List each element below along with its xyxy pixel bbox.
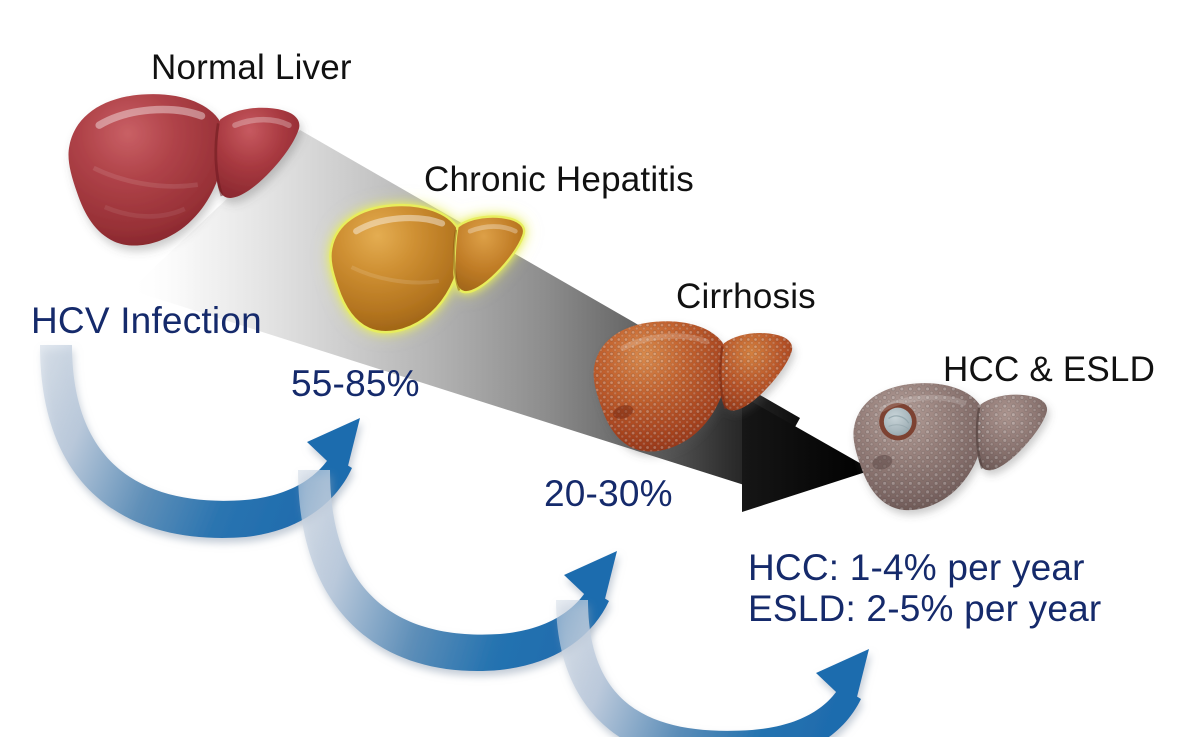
outcome-rate-esld: ESLD: 2-5% per year [748,588,1101,630]
stage-label-normal-liver: Normal Liver [151,48,352,88]
outcome-rate-hcc: HCC: 1-4% per year [748,547,1085,589]
cirrhosis-nodule-texture [594,321,793,451]
diagram-canvas: Normal Liver Chronic Hepatitis Cirrhosis… [0,0,1200,737]
liver-normal [69,94,300,245]
rate-label-55-85: 55-85% [291,363,420,405]
hcc-nodule-texture [853,383,1047,510]
source-label-hcv-infection: HCV Infection [31,300,262,342]
liver-cirrhosis [594,321,793,451]
liver-chronic-hepatitis [330,205,524,332]
stage-label-chronic-hepatitis: Chronic Hepatitis [424,160,694,200]
stage-label-cirrhosis: Cirrhosis [676,277,816,317]
rate-label-20-30: 20-30% [544,473,673,515]
liver-hcc-esld [853,383,1047,510]
stage-label-hcc-esld: HCC & ESLD [943,350,1155,390]
